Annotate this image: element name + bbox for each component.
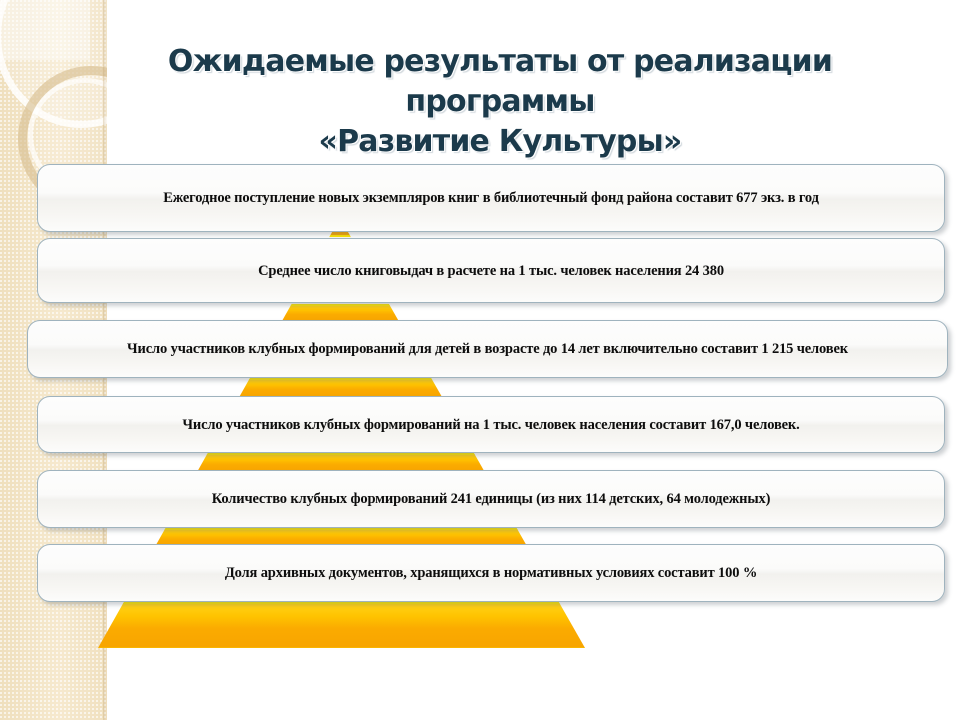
result-row-4[interactable]: Число участников клубных формирований на… — [37, 396, 945, 453]
result-row-label: Число участников клубных формирований на… — [182, 416, 799, 434]
result-row-2[interactable]: Среднее число книговыдач в расчете на 1 … — [37, 238, 945, 303]
result-row-6[interactable]: Доля архивных документов, хранящихся в н… — [37, 544, 945, 602]
result-row-label: Количество клубных формирований 241 един… — [212, 490, 771, 508]
result-row-5[interactable]: Количество клубных формирований 241 един… — [37, 470, 945, 528]
result-row-label: Число участников клубных формирований дл… — [127, 340, 848, 358]
page-title: Ожидаемые результаты от реализации прогр… — [100, 42, 900, 162]
result-row-label: Среднее число книговыдач в расчете на 1 … — [258, 262, 724, 280]
result-row-3[interactable]: Число участников клубных формирований дл… — [27, 320, 948, 378]
result-row-1[interactable]: Ежегодное поступление новых экземпляров … — [37, 164, 945, 232]
result-row-label: Доля архивных документов, хранящихся в н… — [225, 564, 757, 582]
slide-canvas: Ожидаемые результаты от реализации прогр… — [0, 0, 960, 720]
result-row-label: Ежегодное поступление новых экземпляров … — [163, 189, 819, 207]
